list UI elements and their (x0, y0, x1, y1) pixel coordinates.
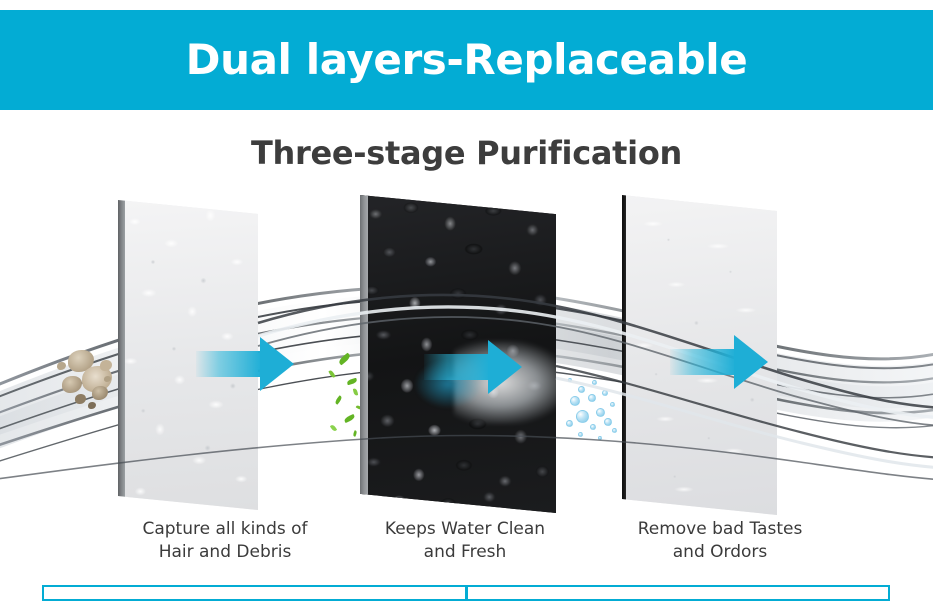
caption-stage-3-line1: Remove bad Tastes (595, 518, 845, 541)
caption-stage-2-line1: Keeps Water Clean (340, 518, 590, 541)
header-title: Dual layers-Replaceable (186, 39, 748, 81)
filter-panel-stage-3-edge (622, 195, 626, 515)
bottom-panel-right (467, 585, 891, 601)
caption-stage-1-line1: Capture all kinds of (100, 518, 350, 541)
caption-stage-2: Keeps Water Clean and Fresh (340, 518, 590, 564)
filter-panel-stage-2 (360, 195, 556, 513)
bottom-panel-left (42, 585, 467, 601)
caption-stage-3-line2: and Ordors (595, 541, 845, 564)
section-subtitle: Three-stage Purification (0, 134, 933, 172)
caption-stage-2-line2: and Fresh (340, 541, 590, 564)
bottom-panel-row (42, 585, 890, 601)
infographic-canvas: Dual layers-Replaceable Three-stage Puri… (0, 0, 933, 601)
filter-panel-stage-1-edge (118, 200, 125, 510)
flow-arrow-stage-1-head (260, 337, 294, 391)
caption-stage-1-line2: Hair and Debris (100, 541, 350, 564)
caption-stage-3: Remove bad Tastes and Ordors (595, 518, 845, 564)
carbon-panel-water-tint (415, 360, 482, 408)
header-banner: Dual layers-Replaceable (0, 10, 933, 110)
filter-panel-stage-1-face (118, 200, 258, 510)
filter-panel-stage-3 (622, 195, 777, 515)
filter-panel-stage-2-edge (360, 195, 368, 513)
filter-panel-stage-1 (118, 200, 258, 510)
filter-panel-stage-3-face (622, 195, 777, 515)
three-stage-illustration (0, 180, 933, 525)
caption-stage-1: Capture all kinds of Hair and Debris (100, 518, 350, 564)
